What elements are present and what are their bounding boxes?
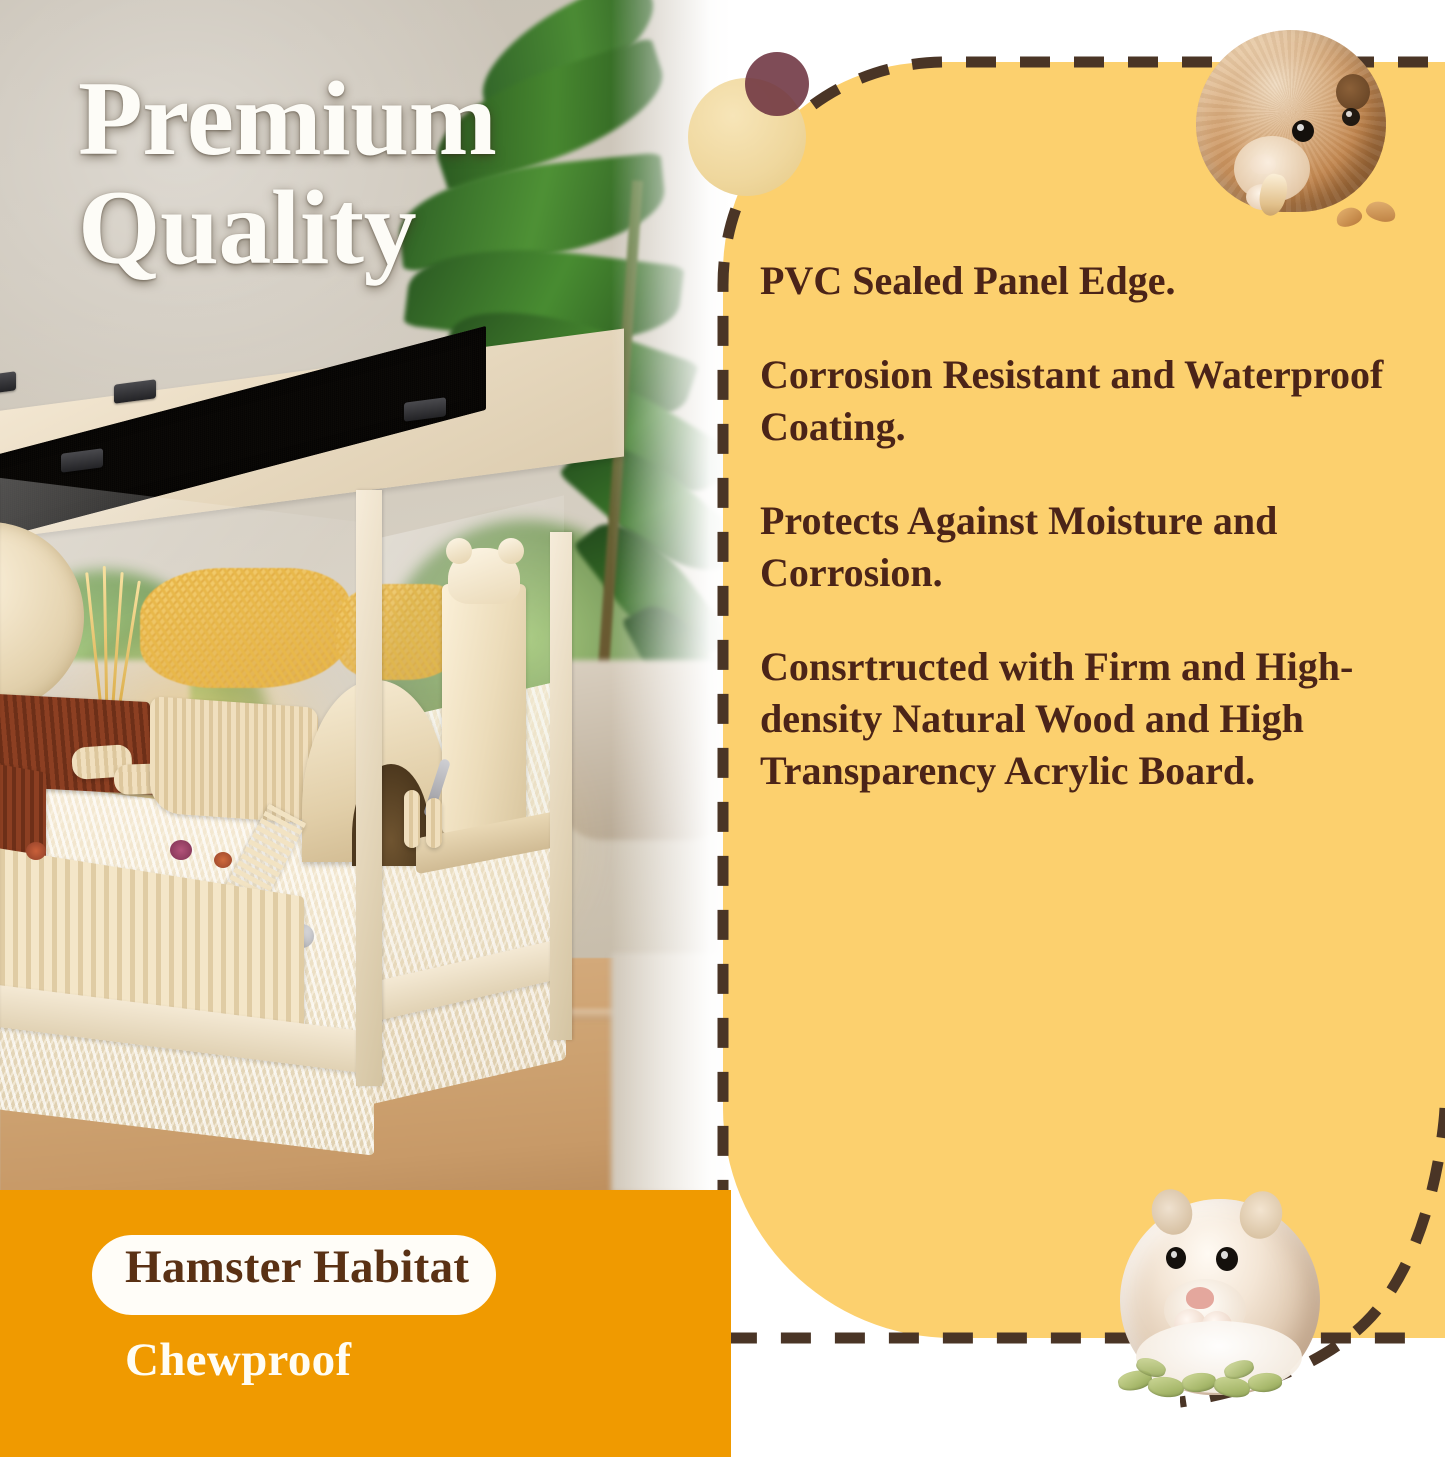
hamster-bottom-image — [1112, 1185, 1362, 1410]
product-name-label: Hamster Habitat — [125, 1240, 469, 1294]
bottle-bear-ear — [498, 538, 524, 564]
feature-item: Corrosion Resistant and Waterproof Coati… — [760, 349, 1420, 453]
bottle-bear-ear — [446, 538, 472, 564]
chewproof-label: Chewproof — [125, 1333, 351, 1387]
hamster-eye — [1342, 108, 1360, 126]
pumpkin-seed — [1247, 1372, 1282, 1393]
hamster-habitat-cage — [0, 372, 644, 1172]
perch-stick — [426, 798, 442, 848]
feature-item: Protects Against Moisture and Corrosion. — [760, 495, 1420, 599]
hamster-eye — [1166, 1247, 1186, 1269]
bottom-banner — [0, 1190, 731, 1457]
food-seed — [1334, 204, 1364, 229]
features-list: PVC Sealed Panel Edge. Corrosion Resista… — [760, 255, 1420, 797]
water-bottle — [442, 584, 526, 834]
dried-flower — [170, 840, 192, 860]
perch-stick — [404, 790, 420, 848]
title-line-1: Premium — [78, 64, 678, 173]
maroon-circle-icon — [745, 52, 809, 116]
feature-item: Consrtructed with Firm and High-density … — [760, 641, 1420, 797]
title-line-2: Quality — [78, 173, 678, 282]
hamster-top-image — [1188, 16, 1403, 231]
hamster-nose — [1186, 1287, 1214, 1309]
hamster-ear — [1336, 74, 1370, 110]
wooden-tub — [150, 696, 318, 824]
dried-flower — [214, 852, 232, 868]
food-seed — [1364, 198, 1398, 225]
hay-mound — [140, 568, 350, 688]
infographic-canvas: Premium Quality PVC Sealed Panel Edge. C… — [0, 0, 1445, 1457]
cage-corner-post — [356, 490, 382, 1086]
page-title: Premium Quality — [78, 64, 678, 282]
cage-hinge — [0, 371, 16, 396]
feature-item: PVC Sealed Panel Edge. — [760, 255, 1420, 307]
cage-corner-post — [550, 532, 572, 1040]
hamster-eye — [1292, 120, 1314, 142]
dried-flower — [26, 842, 46, 860]
hamster-eye — [1216, 1247, 1238, 1271]
